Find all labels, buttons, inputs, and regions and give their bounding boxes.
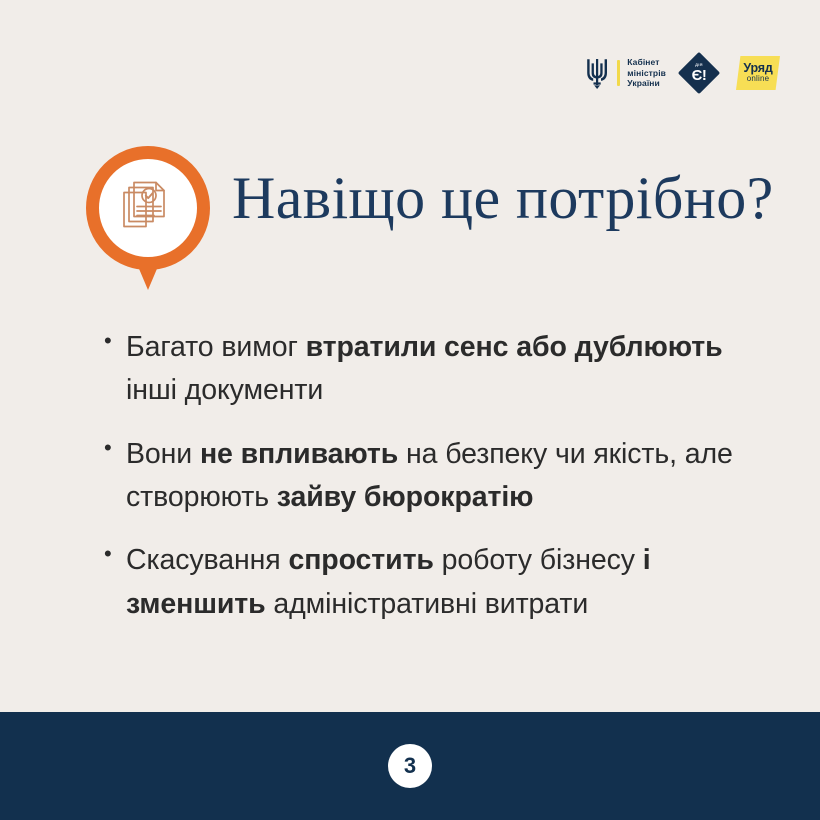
diia-inner: ДІЯ Є! xyxy=(678,52,720,94)
footer-bar: 3 xyxy=(0,712,820,820)
bullet-dot-icon: • xyxy=(104,326,126,341)
uryad-text: Уряд online xyxy=(743,62,772,84)
cabinet-of-ministers-logo: Кабінет міністрів України xyxy=(584,56,666,90)
logo-bar: Кабінет міністрів України ДІЯ Є! Уряд on… xyxy=(584,52,784,94)
list-item: • Вони не впливають на безпеку чи якість… xyxy=(104,433,764,520)
documents-check-icon xyxy=(119,177,177,240)
bullet-dot-icon: • xyxy=(104,433,126,448)
page-number-badge: 3 xyxy=(388,744,432,788)
diia-logo: ДІЯ Є! xyxy=(678,52,720,94)
list-item: • Багато вимог втратили сенс або дублюют… xyxy=(104,326,764,413)
bullet-text: Вони не впливають на безпеку чи якість, … xyxy=(126,433,764,520)
tryzub-icon xyxy=(584,56,610,90)
bullet-list: • Багато вимог втратили сенс або дублюют… xyxy=(104,326,764,646)
list-item: • Скасування спростить роботу бізнесу і … xyxy=(104,539,764,626)
pin-badge xyxy=(86,146,210,291)
slide-root: Кабінет міністрів України ДІЯ Є! Уряд on… xyxy=(0,0,820,820)
cabinet-of-ministers-label: Кабінет міністрів України xyxy=(627,57,666,88)
logo-divider xyxy=(617,60,620,86)
bullet-text: Багато вимог втратили сенс або дублюють … xyxy=(126,326,764,413)
uryad-sub-label: online xyxy=(743,75,772,83)
bullet-dot-icon: • xyxy=(104,539,126,554)
diia-mark-label: Є! xyxy=(692,68,707,83)
page-title: Навіщо це потрібно? xyxy=(232,168,774,228)
uryad-online-logo: Уряд online xyxy=(732,53,784,93)
bullet-text: Скасування спростить роботу бізнесу і зм… xyxy=(126,539,764,626)
